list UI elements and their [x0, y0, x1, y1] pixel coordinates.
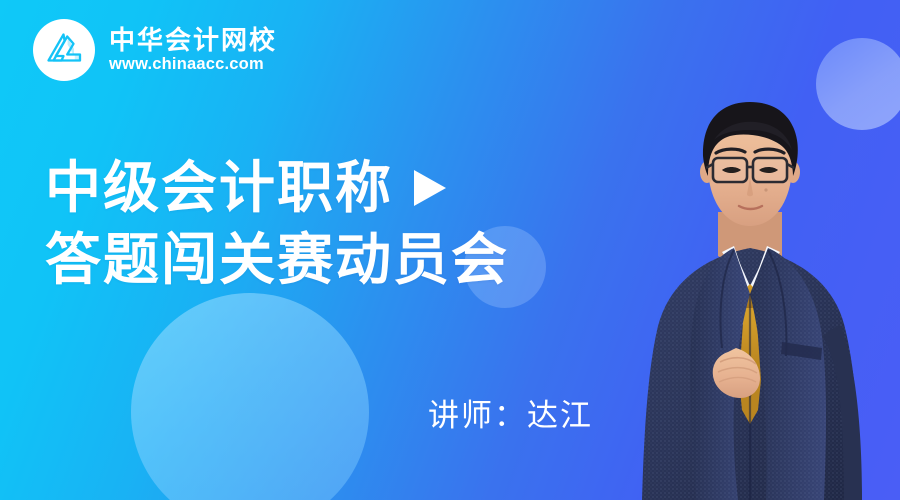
headline-line-2: 答题闯关赛动员会 — [45, 224, 509, 296]
brand-url: www.chinaacc.com — [109, 56, 277, 73]
instructor-caption: 讲师：达江 — [428, 400, 593, 431]
chinaacc-logo-icon — [33, 19, 95, 81]
brand-logo-text-group: 中华会计网校 www.chinaacc.com — [109, 27, 277, 73]
play-triangle-icon[interactable] — [411, 166, 451, 210]
headline-line-1-text: 中级会计职称 — [45, 160, 393, 216]
headline-line-1: 中级会计职称 — [45, 152, 509, 224]
headline-block: 中级会计职称 答题闯关赛动员会 — [45, 152, 509, 296]
promo-banner: 中华会计网校 www.chinaacc.com 中级会计职称 答题闯关赛动员会 … — [0, 0, 900, 500]
decorative-circle-bottom-left — [131, 293, 369, 500]
brand-logo-lockup[interactable]: 中华会计网校 www.chinaacc.com — [33, 19, 277, 81]
presenter-photo — [600, 80, 900, 500]
headline-line-2-text: 答题闯关赛动员会 — [45, 232, 509, 288]
brand-name: 中华会计网校 — [109, 27, 277, 53]
